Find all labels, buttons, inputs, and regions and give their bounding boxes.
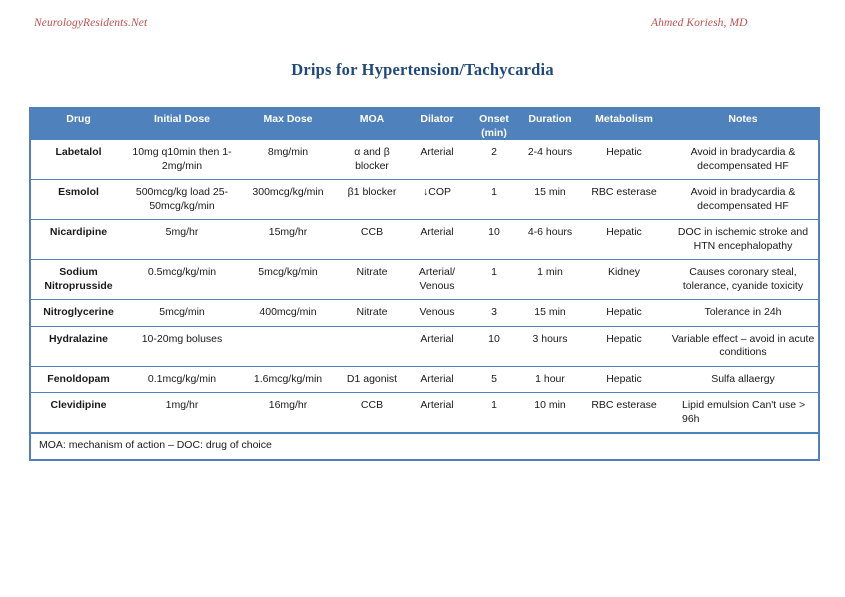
table-row: Nitroglycerine 5mcg/min 400mcg/min Nitra… [30, 300, 819, 327]
cell-drug: Hydralazine [30, 326, 126, 366]
cell-max-dose: 8mg/min [238, 140, 338, 180]
cell-max-dose: 300mcg/kg/min [238, 180, 338, 220]
column-header-max-dose: Max Dose [238, 107, 338, 140]
cell-max-dose: 400mcg/min [238, 300, 338, 327]
column-header-duration: Duration [520, 107, 580, 140]
cell-metabolism: RBC esterase [580, 180, 668, 220]
cell-drug: Fenoldopam [30, 366, 126, 393]
cell-metabolism: Hepatic [580, 300, 668, 327]
drips-table-container: Drug Initial Dose Max Dose MOA Dilator O… [29, 107, 818, 461]
cell-drug: Sodium Nitroprusside [30, 260, 126, 300]
cell-notes: Variable effect – avoid in acute conditi… [668, 326, 819, 366]
cell-moa [338, 326, 406, 366]
cell-notes: Avoid in bradycardia & decompensated HF [668, 180, 819, 220]
cell-onset: 5 [468, 366, 520, 393]
cell-duration: 1 min [520, 260, 580, 300]
cell-initial-dose: 0.5mcg/kg/min [126, 260, 238, 300]
column-header-onset: Onset (min) [468, 107, 520, 140]
table-footnote: MOA: mechanism of action – DOC: drug of … [30, 433, 819, 460]
cell-duration: 3 hours [520, 326, 580, 366]
cell-metabolism: Hepatic [580, 326, 668, 366]
table-row: Nicardipine 5mg/hr 15mg/hr CCB Arterial … [30, 220, 819, 260]
cell-max-dose: 5mcg/kg/min [238, 260, 338, 300]
cell-initial-dose: 10-20mg boluses [126, 326, 238, 366]
column-header-moa: MOA [338, 107, 406, 140]
cell-initial-dose: 5mcg/min [126, 300, 238, 327]
cell-initial-dose: 0.1mcg/kg/min [126, 366, 238, 393]
cell-metabolism: RBC esterase [580, 393, 668, 434]
cell-notes: Tolerance in 24h [668, 300, 819, 327]
column-header-notes: Notes [668, 107, 819, 140]
cell-metabolism: Kidney [580, 260, 668, 300]
cell-dilator: Arterial [406, 393, 468, 434]
cell-onset: 1 [468, 393, 520, 434]
cell-dilator: Arterial [406, 140, 468, 180]
cell-max-dose: 16mg/hr [238, 393, 338, 434]
site-credit: NeurologyResidents.Net [34, 17, 147, 29]
cell-dilator: ↓COP [406, 180, 468, 220]
cell-drug: Labetalol [30, 140, 126, 180]
cell-metabolism: Hepatic [580, 366, 668, 393]
cell-drug: Esmolol [30, 180, 126, 220]
table-header-row: Drug Initial Dose Max Dose MOA Dilator O… [30, 107, 819, 140]
cell-moa: D1 agonist [338, 366, 406, 393]
cell-onset: 10 [468, 220, 520, 260]
cell-max-dose: 1.6mcg/kg/min [238, 366, 338, 393]
table-row: Fenoldopam 0.1mcg/kg/min 1.6mcg/kg/min D… [30, 366, 819, 393]
cell-onset: 1 [468, 260, 520, 300]
cell-duration: 4-6 hours [520, 220, 580, 260]
table-body: Labetalol 10mg q10min then 1-2mg/min 8mg… [30, 140, 819, 460]
cell-max-dose [238, 326, 338, 366]
cell-duration: 15 min [520, 180, 580, 220]
table-footnote-row: MOA: mechanism of action – DOC: drug of … [30, 433, 819, 460]
cell-notes: DOC in ischemic stroke and HTN encephalo… [668, 220, 819, 260]
cell-notes: Lipid emulsion Can't use > 96h [668, 393, 819, 434]
cell-duration: 1 hour [520, 366, 580, 393]
cell-moa: Nitrate [338, 260, 406, 300]
cell-duration: 10 min [520, 393, 580, 434]
table-row: Esmolol 500mcg/kg load 25-50mcg/kg/min 3… [30, 180, 819, 220]
table-row: Labetalol 10mg q10min then 1-2mg/min 8mg… [30, 140, 819, 180]
column-header-dilator: Dilator [406, 107, 468, 140]
cell-moa: Nitrate [338, 300, 406, 327]
cell-initial-dose: 500mcg/kg load 25-50mcg/kg/min [126, 180, 238, 220]
cell-dilator: Arterial [406, 220, 468, 260]
cell-dilator: Arterial [406, 366, 468, 393]
cell-duration: 2-4 hours [520, 140, 580, 180]
cell-onset: 10 [468, 326, 520, 366]
table-row: Hydralazine 10-20mg boluses Arterial 10 … [30, 326, 819, 366]
cell-dilator: Arterial/ Venous [406, 260, 468, 300]
cell-max-dose: 15mg/hr [238, 220, 338, 260]
table-row: Sodium Nitroprusside 0.5mcg/kg/min 5mcg/… [30, 260, 819, 300]
table-row: Clevidipine 1mg/hr 16mg/hr CCB Arterial … [30, 393, 819, 434]
cell-duration: 15 min [520, 300, 580, 327]
cell-metabolism: Hepatic [580, 140, 668, 180]
table-header: Drug Initial Dose Max Dose MOA Dilator O… [30, 107, 819, 140]
cell-dilator: Venous [406, 300, 468, 327]
cell-onset: 2 [468, 140, 520, 180]
cell-moa: CCB [338, 220, 406, 260]
cell-initial-dose: 5mg/hr [126, 220, 238, 260]
column-header-metabolism: Metabolism [580, 107, 668, 140]
author-credit: Ahmed Koriesh, MD [651, 17, 748, 29]
cell-notes: Causes coronary steal, tolerance, cyanid… [668, 260, 819, 300]
cell-drug: Nicardipine [30, 220, 126, 260]
drips-table: Drug Initial Dose Max Dose MOA Dilator O… [29, 107, 820, 461]
cell-drug: Nitroglycerine [30, 300, 126, 327]
column-header-initial-dose: Initial Dose [126, 107, 238, 140]
cell-initial-dose: 1mg/hr [126, 393, 238, 434]
document-page: NeurologyResidents.Net Ahmed Koriesh, MD… [0, 0, 845, 597]
cell-dilator: Arterial [406, 326, 468, 366]
cell-initial-dose: 10mg q10min then 1-2mg/min [126, 140, 238, 180]
cell-onset: 3 [468, 300, 520, 327]
cell-moa: β1 blocker [338, 180, 406, 220]
cell-moa: α and β blocker [338, 140, 406, 180]
page-title: Drips for Hypertension/Tachycardia [0, 60, 845, 80]
cell-notes: Avoid in bradycardia & decompensated HF [668, 140, 819, 180]
cell-onset: 1 [468, 180, 520, 220]
cell-moa: CCB [338, 393, 406, 434]
column-header-drug: Drug [30, 107, 126, 140]
running-header: NeurologyResidents.Net Ahmed Koriesh, MD [0, 17, 845, 37]
cell-drug: Clevidipine [30, 393, 126, 434]
cell-metabolism: Hepatic [580, 220, 668, 260]
cell-notes: Sulfa allaergy [668, 366, 819, 393]
